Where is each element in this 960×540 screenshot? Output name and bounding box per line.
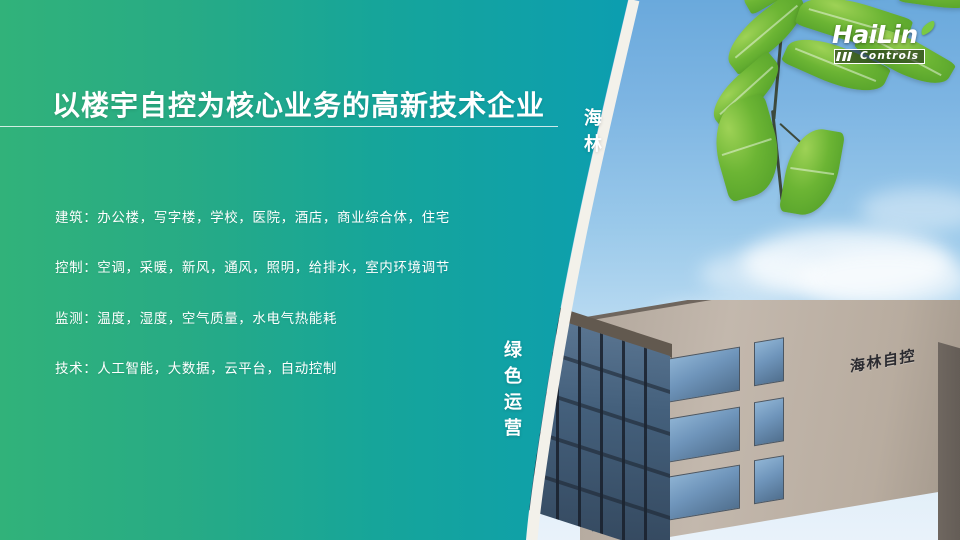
office-building-photo: 海林自控 <box>520 300 960 540</box>
building-window <box>662 407 740 464</box>
building-side-wall <box>938 342 960 540</box>
list-item: 控制：空调，采暖，新风，通风，照明，给排水，室内环境调节 <box>55 258 525 278</box>
building-window <box>754 397 784 446</box>
slide-canvas: 海林自控 以楼宇自控为核心业务的高新技术企业 <box>0 0 960 540</box>
bullet-list: 建筑：办公楼，写字楼，学校，医院，酒店，商业综合体，住宅 控制：空调，采暖，新风… <box>55 208 525 379</box>
building-window <box>662 347 740 404</box>
list-item: 建筑：办公楼，写字楼，学校，医院，酒店，商业综合体，住宅 <box>55 208 525 228</box>
list-item: 监测：温度，湿度，空气质量，水电气热能耗 <box>55 309 525 329</box>
window-mullion <box>622 340 625 540</box>
hailin-controls-logo: HaiLin Controls <box>832 22 948 66</box>
leaf-icon <box>919 20 938 35</box>
leaf-shape <box>779 124 845 220</box>
building-window <box>662 465 740 522</box>
building-window <box>754 337 784 386</box>
window-mullion <box>600 333 603 534</box>
logo-subtitle-bar: Controls <box>834 49 925 64</box>
vertical-text-green-operation: 绿色运营 <box>498 340 524 444</box>
building-window <box>754 455 784 504</box>
page-title: 以楼宇自控为核心业务的高新技术企业 <box>52 84 545 124</box>
window-mullion <box>578 326 581 527</box>
text-content-area: 以楼宇自控为核心业务的高新技术企业 建筑：办公楼，写字楼，学校，医院，酒店，商业… <box>0 0 560 540</box>
logo-wordmark: HaiLin <box>832 22 918 48</box>
vertical-text-hailin: 海林 <box>578 108 604 160</box>
list-item: 技术：人工智能，大数据，云平台，自动控制 <box>55 359 525 379</box>
leaf-shape <box>898 0 960 14</box>
title-underline-rule <box>0 126 558 127</box>
logo-subtitle-text: Controls <box>855 49 925 64</box>
slashes-icon <box>834 49 855 64</box>
